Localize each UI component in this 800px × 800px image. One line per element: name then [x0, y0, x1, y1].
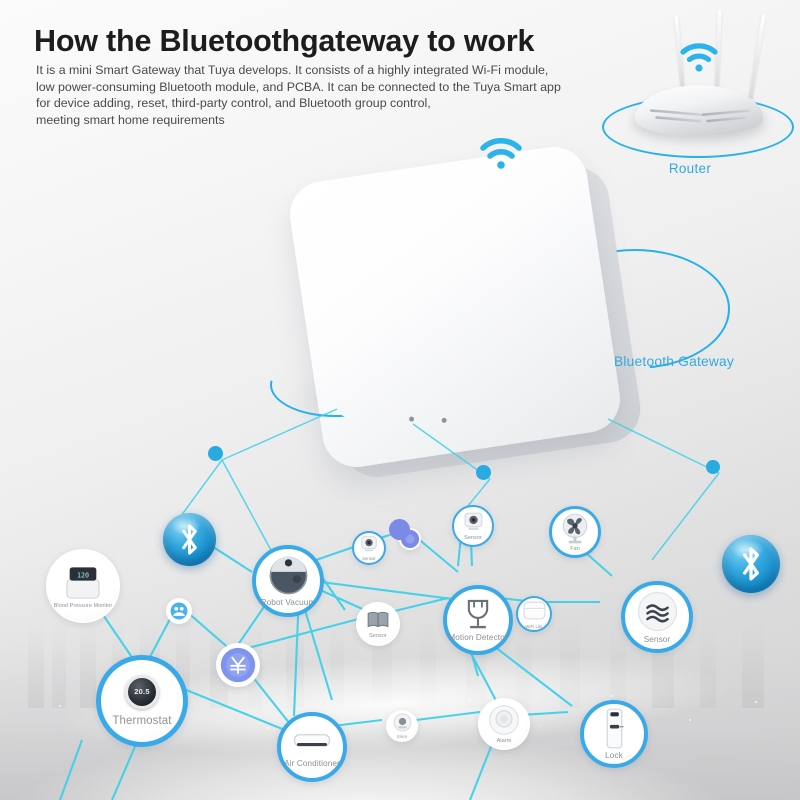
network-link	[222, 409, 337, 460]
device-node-label: Fan	[570, 547, 580, 553]
device-node-label: Sensor	[644, 636, 671, 645]
thermostat-icon: 20.5	[125, 675, 159, 709]
device-node-label: Air Conditioner	[284, 760, 340, 769]
device-node-siren[interactable]: Siren	[386, 710, 418, 742]
device-node-sensor-mid[interactable]: Sensor	[352, 531, 386, 565]
device-node-label: Lock	[605, 752, 623, 761]
device-node-label: Motion Detector	[448, 634, 507, 643]
device-node-sensor-top[interactable]: Sensor	[452, 505, 494, 547]
siren-icon	[393, 713, 412, 732]
network-link	[222, 460, 272, 552]
device-node-label: Siren	[397, 735, 407, 740]
device-node-sensor-right[interactable]: Sensor	[621, 581, 693, 653]
network-link	[608, 419, 719, 473]
device-node-yen-node[interactable]	[216, 643, 260, 687]
connector-dot	[476, 465, 491, 480]
camera-sensor-icon	[359, 534, 379, 554]
device-node-label: Blood Pressure Monitor	[54, 604, 113, 610]
device-node-thermostat[interactable]: 20.5 Thermostat	[96, 655, 188, 747]
camera-sensor-icon	[462, 510, 485, 533]
smart-lock-icon	[600, 708, 629, 749]
infographic-poster: How the Bluetoothgateway to work It is a…	[0, 0, 800, 800]
book-sensor-icon	[366, 609, 390, 631]
device-node-label: Sensor	[369, 634, 387, 640]
network-link	[178, 460, 222, 520]
device-node-bulb-node[interactable]	[166, 598, 192, 624]
network-link	[60, 740, 82, 800]
device-node-air-conditioner[interactable]: Air Conditioner	[277, 712, 347, 782]
bluetooth-icon	[722, 535, 780, 593]
water-sensor-icon	[636, 590, 679, 633]
svg-text:120: 120	[77, 571, 89, 579]
thermostat-dial: 20.5	[125, 675, 159, 709]
device-node-label: Sensor	[362, 557, 376, 562]
robot-vacuum-icon	[268, 555, 309, 596]
alarm-icon	[488, 704, 520, 736]
device-node-label: Sensor	[464, 536, 482, 542]
fan-icon	[559, 512, 591, 544]
people-icon	[170, 602, 188, 620]
device-node-label: WiFi Lite	[525, 625, 542, 630]
motion-detector-icon	[462, 597, 494, 631]
device-node-label: Thermostat	[112, 715, 171, 727]
device-node-blood-pressure-monitor[interactable]: 120 Blood Pressure Monitor	[46, 549, 120, 623]
air-conditioner-icon	[292, 725, 332, 757]
device-node-alarm[interactable]: Alarm	[478, 698, 530, 750]
device-node-wifi-lite[interactable]: WiFi Lite	[516, 596, 552, 632]
connector-dot	[208, 446, 223, 461]
device-node-label: Robot Vacuum	[261, 599, 316, 608]
device-node-motion-detector[interactable]: Motion Detector	[443, 585, 513, 655]
device-node-label: Alarm	[497, 739, 512, 745]
thermostat-value: 20.5	[134, 687, 149, 696]
connector-dot	[389, 519, 410, 540]
device-node-lock[interactable]: Lock	[580, 700, 648, 768]
device-node-robot-vacuum[interactable]: Robot Vacuum	[252, 545, 324, 617]
network-link	[652, 473, 719, 560]
blood-pressure-monitor-icon: 120	[63, 563, 103, 601]
yen-icon	[220, 647, 256, 683]
wifi-lite-icon	[522, 599, 547, 622]
device-node-sensor-left[interactable]: Sensor	[356, 602, 400, 646]
connector-dot	[706, 460, 720, 474]
bluetooth-icon	[163, 513, 216, 566]
device-node-fan[interactable]: Fan	[549, 506, 601, 558]
